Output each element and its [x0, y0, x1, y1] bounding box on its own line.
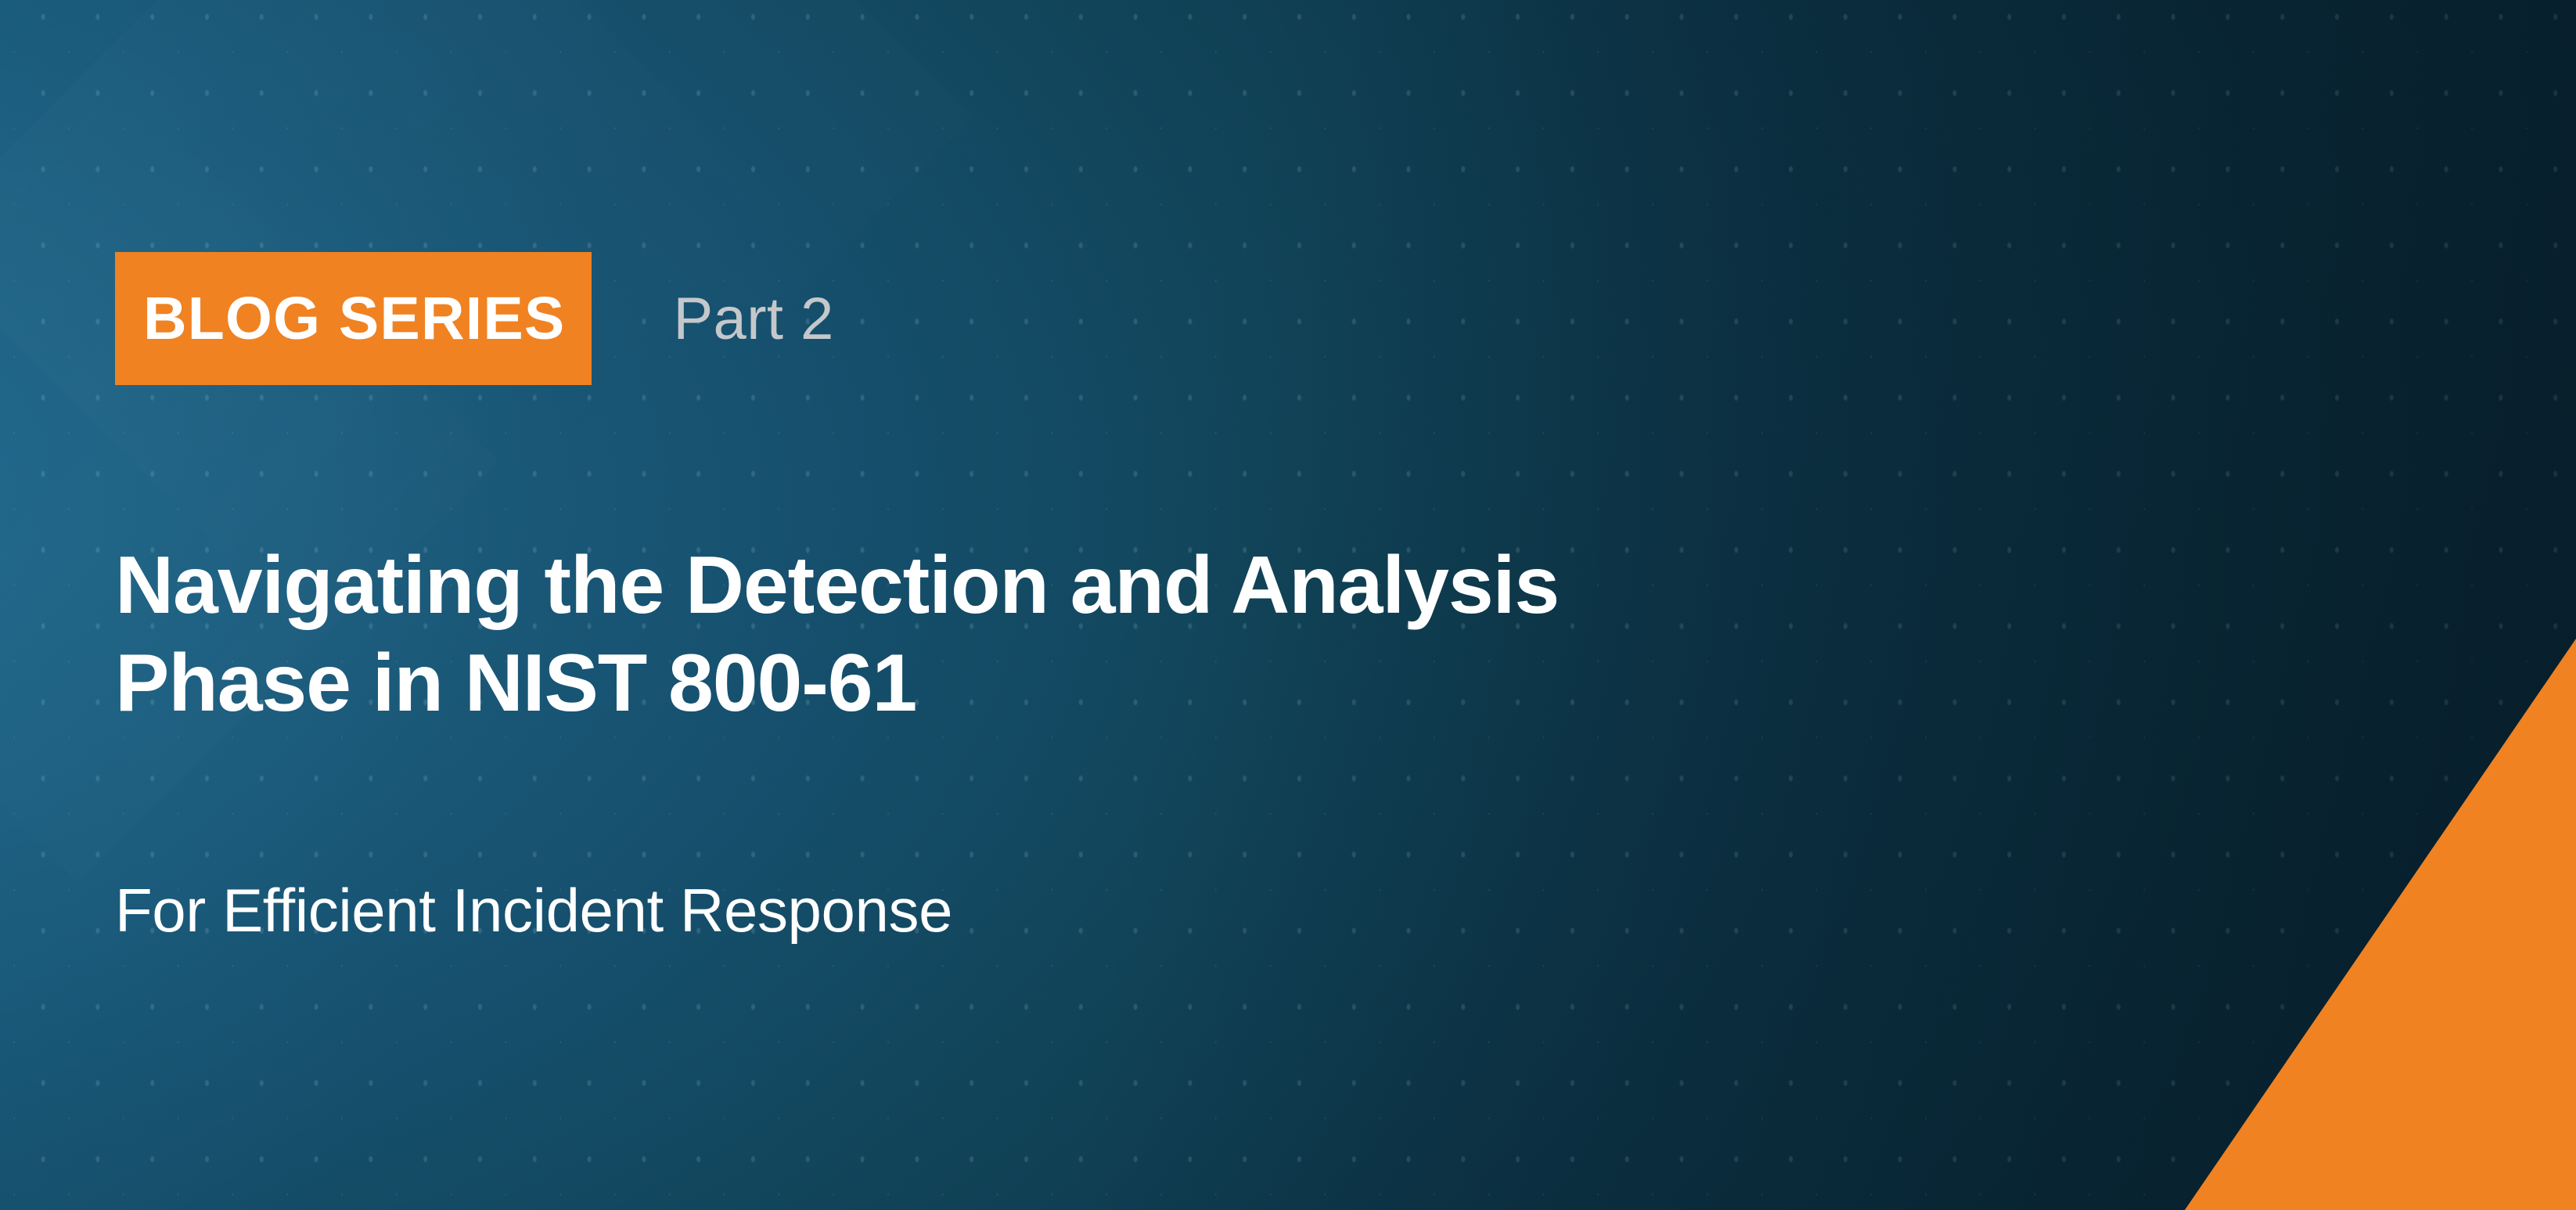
eyebrow-row: BLOG SERIES Part 2 [115, 252, 834, 385]
blog-series-badge: BLOG SERIES [115, 252, 592, 385]
headline-line-2: Phase in NIST 800-61 [115, 635, 1559, 733]
page-title: Navigating the Detection and Analysis Ph… [115, 537, 1559, 733]
part-number-label: Part 2 [673, 285, 833, 353]
page-subtitle: For Efficient Incident Response [115, 875, 952, 946]
banner-content: BLOG SERIES Part 2 Navigating the Detect… [115, 0, 2384, 1210]
blog-series-banner: BLOG SERIES Part 2 Navigating the Detect… [0, 0, 2576, 1210]
headline-line-1: Navigating the Detection and Analysis [115, 537, 1559, 635]
